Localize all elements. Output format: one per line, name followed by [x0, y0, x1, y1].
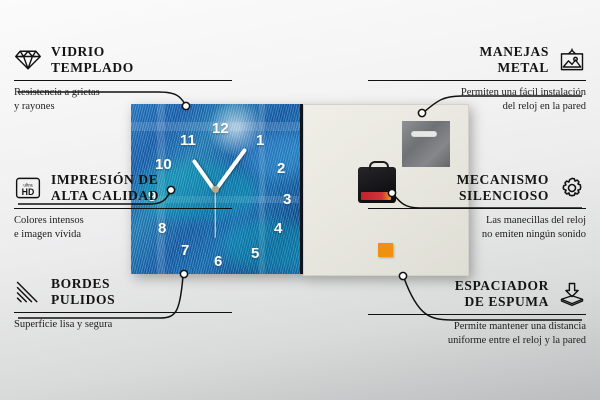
feature-header: ultra HD IMPRESIÓN DEALTA CALIDAD [14, 172, 232, 204]
clock-numeral-6: 6 [214, 254, 222, 269]
feature-bordes-pulidos: BORDESPULIDOS Superficie lisa y segura [14, 276, 232, 332]
feature-header: MECANISMOSILENCIOSO [368, 172, 586, 204]
feature-description: Las manecillas del relojno emiten ningún… [368, 214, 586, 242]
feature-description: Permite mantener una distanciauniforme e… [368, 320, 586, 348]
diamond-icon [14, 47, 42, 73]
feature-title: ESPACIADORDE ESPUMA [455, 278, 549, 310]
face-glow [223, 220, 303, 272]
svg-text:HD: HD [22, 187, 35, 197]
feature-divider [14, 312, 232, 314]
metal-hanger-plate [402, 121, 450, 167]
polished-edge-icon [14, 279, 42, 305]
clock-numeral-12: 12 [212, 121, 229, 136]
feature-description: Colores intensose imagen vívida [14, 214, 232, 242]
foam-spacer-arrow-icon [558, 281, 586, 307]
feature-divider [14, 208, 232, 210]
feature-divider [14, 80, 232, 82]
foam-spacer [378, 243, 393, 257]
clock-numeral-3: 3 [283, 192, 291, 207]
clock-numeral-11: 11 [180, 133, 196, 148]
gear-icon [558, 175, 586, 201]
clock-numeral-2: 2 [277, 161, 285, 176]
ultra-hd-icon: ultra HD [14, 175, 42, 201]
feature-manejas-metal: MANEJASMETAL Permiten una fácil instalac… [368, 44, 586, 114]
face-glow [243, 132, 303, 178]
feature-description: Permiten una fácil instalacióndel reloj … [368, 86, 586, 114]
clock-numeral-1: 1 [256, 133, 264, 148]
feature-title: MECANISMOSILENCIOSO [457, 172, 549, 204]
feature-header: ESPACIADORDE ESPUMA [368, 278, 586, 310]
feature-header: BORDESPULIDOS [14, 276, 232, 308]
clock-numeral-7: 7 [181, 243, 189, 258]
feature-title: IMPRESIÓN DEALTA CALIDAD [51, 172, 159, 204]
feature-impresion-alta-calidad: ultra HD IMPRESIÓN DEALTA CALIDAD Colore… [14, 172, 232, 242]
feature-header: VIDRIOTEMPLADO [14, 44, 232, 76]
feature-title: VIDRIOTEMPLADO [51, 44, 134, 76]
feature-divider [368, 208, 586, 210]
feature-vidrio-templado: VIDRIOTEMPLADO Resistencia a grietasy ra… [14, 44, 232, 114]
feature-header: MANEJASMETAL [368, 44, 586, 76]
feature-divider [368, 314, 586, 316]
feature-title: BORDESPULIDOS [51, 276, 115, 308]
feature-divider [368, 80, 586, 82]
infographic-stage: 12 1 2 3 4 5 6 7 8 9 10 11 [0, 0, 600, 400]
mechanism-hook [369, 161, 389, 171]
clock-numeral-4: 4 [274, 221, 282, 236]
picture-frame-hanging-icon [558, 47, 586, 73]
feature-description: Superficie lisa y segura [14, 318, 232, 332]
feature-description: Resistencia a grietasy rayones [14, 86, 232, 114]
feature-mecanismo-silencioso: MECANISMOSILENCIOSO Las manecillas del r… [368, 172, 586, 242]
clock-numeral-10: 10 [155, 157, 172, 172]
feature-title: MANEJASMETAL [480, 44, 549, 76]
clock-numeral-5: 5 [251, 246, 259, 261]
feature-espaciador-espuma: ESPACIADORDE ESPUMA Permite mantener una… [368, 278, 586, 348]
